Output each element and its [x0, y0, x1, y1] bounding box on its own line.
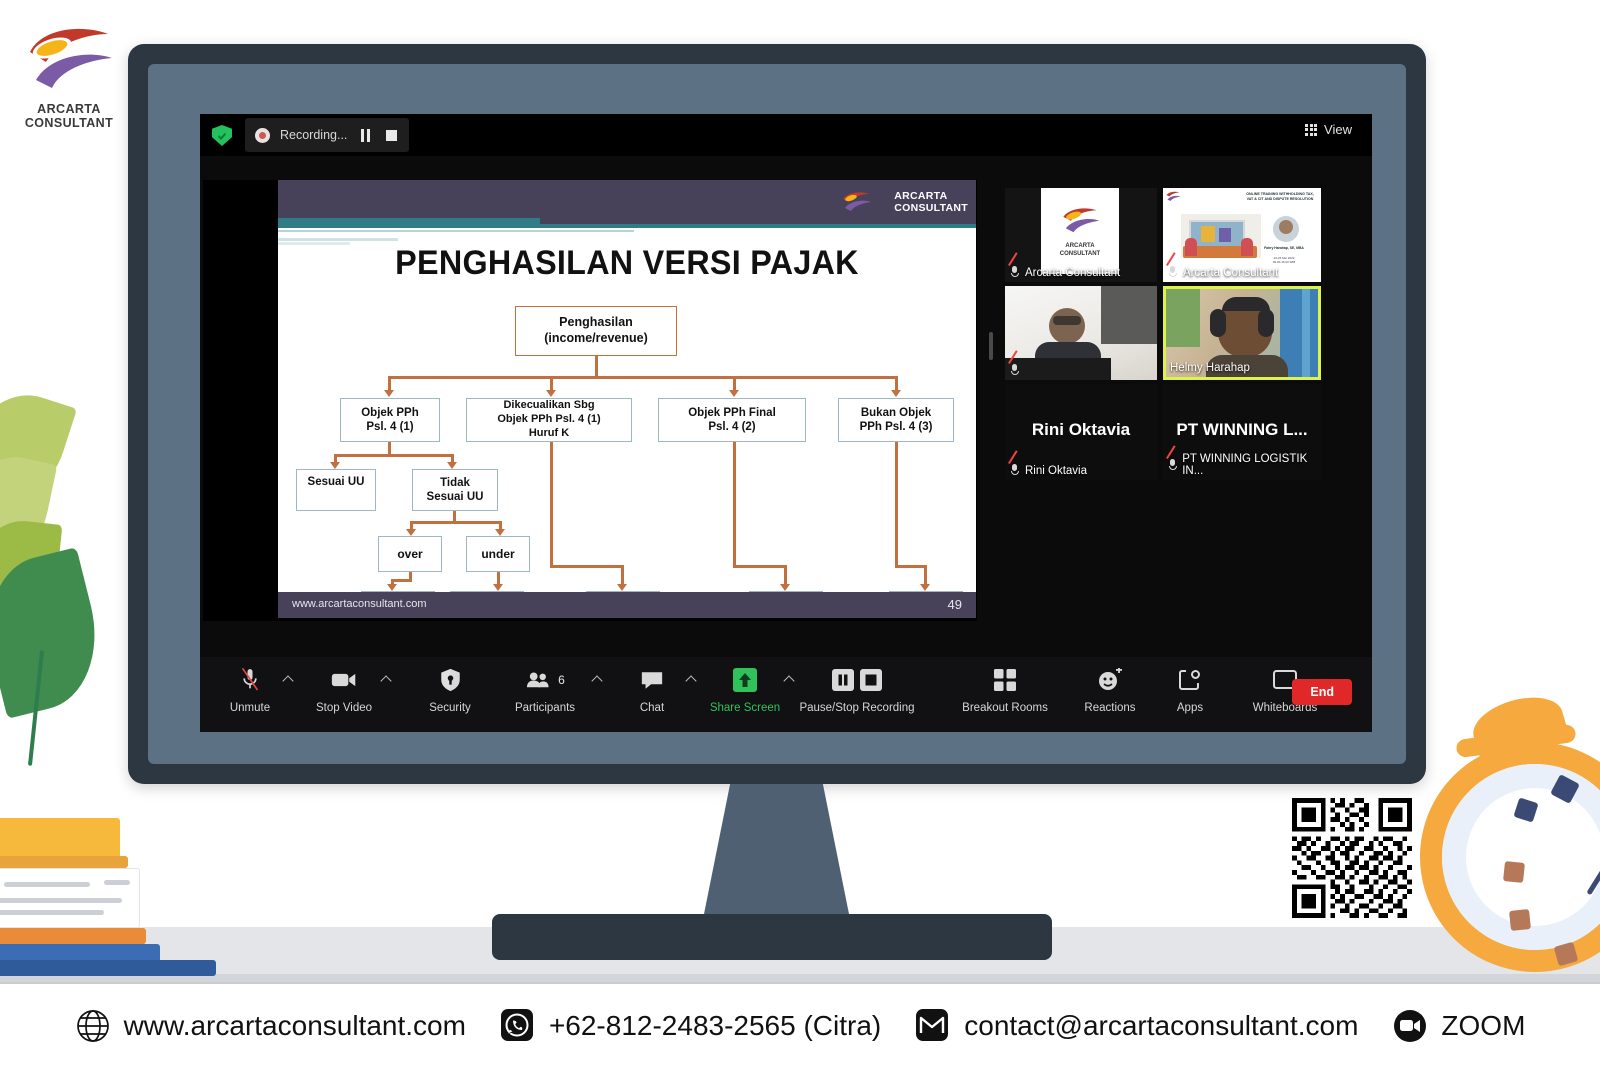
toolbar-label: Breakout Rooms [962, 702, 1048, 714]
apps-bracket-icon [1178, 665, 1202, 695]
stop-recording-icon[interactable] [383, 127, 399, 143]
shared-screen-area[interactable]: ARCARTACONSULTANT PENGHASILAN VERSI PAJA… [203, 180, 977, 621]
slide-brand-text: ARCARTACONSULTANT [894, 190, 968, 214]
zoom-bottom-toolbar: Unmute Stop Video [200, 657, 1372, 732]
contact-website-text: www.arcartaconsultant.com [124, 1010, 466, 1042]
video-camera-icon [331, 665, 357, 695]
monitor-stand-neck [704, 784, 849, 914]
zoom-top-bar: Recording... View [200, 114, 1372, 156]
monitor-frame: Recording... View [128, 44, 1426, 784]
brand-logo-text: ARCARTACONSULTANT [16, 102, 122, 130]
toolbar-label: Apps [1177, 702, 1203, 714]
mic-muted-icon [240, 665, 260, 695]
toolbar-label: Pause/Stop Recording [799, 702, 914, 714]
slide-footer-band: www.arcartaconsultant.com 49 [278, 592, 976, 618]
tile-nametag [1009, 364, 1025, 377]
shield-check-icon[interactable] [212, 125, 232, 146]
participant-tile-pt-winning[interactable]: PT WINNING L... PT WINNING LOGISTIK IN..… [1163, 384, 1321, 480]
contact-website[interactable]: www.arcartaconsultant.com [75, 1008, 466, 1044]
monitor-screen: Recording... View [200, 114, 1372, 732]
chevron-up-icon-mic[interactable] [284, 677, 292, 685]
monitor-inner-bezel: Recording... View [148, 64, 1406, 764]
presentation-slide: ARCARTACONSULTANT PENGHASILAN VERSI PAJA… [278, 180, 976, 618]
record-dot-icon [255, 128, 270, 143]
globe-icon [75, 1008, 111, 1044]
poster-canvas: ARCARTACONSULTANT Recording... [0, 0, 1600, 1067]
contact-whatsapp-text: +62-812-2483-2565 (Citra) [549, 1010, 881, 1042]
pause-recording-icon[interactable] [357, 127, 373, 143]
smiley-plus-icon [1097, 665, 1123, 695]
mic-muted-icon [1009, 266, 1020, 279]
contact-bar: www.arcartaconsultant.com +62-812-2483-2… [0, 982, 1600, 1067]
toolbar-share-screen-button[interactable]: Share Screen [705, 665, 785, 714]
toolbar-chat-button[interactable]: Chat [612, 665, 692, 714]
gmail-icon [915, 1008, 951, 1044]
grid-squares-icon [993, 665, 1017, 695]
flow-box-over: over [378, 536, 442, 572]
chevron-up-icon-video[interactable] [382, 677, 390, 685]
participant-tiles: ARCARTACONSULTANT Arcarta Consultant [995, 180, 1360, 621]
toolbar-label: Participants [515, 702, 575, 714]
recording-label: Recording... [280, 128, 347, 142]
tile-nametag: PT WINNING LOGISTIK IN... [1167, 453, 1321, 477]
chevron-up-icon-chat[interactable] [687, 677, 695, 685]
flow-box-sesuai-uu: Sesuai UU [296, 469, 376, 511]
people-icon: 6 [525, 665, 565, 695]
arcarta-logo: ARCARTACONSULTANT [16, 18, 122, 130]
mic-muted-icon [1009, 464, 1020, 477]
toolbar-reactions-button[interactable]: Reactions [1070, 665, 1150, 714]
contact-zoom-text: ZOOM [1441, 1010, 1525, 1042]
tile-nametag: Helmy Harahap [1170, 362, 1250, 374]
tile-display-name: PT WINNING L... [1163, 420, 1321, 440]
tile-nametag: Arcarta Consultant [1009, 266, 1120, 279]
toolbar-label: Stop Video [316, 702, 372, 714]
flow-box-bukan-objek: Bukan Objek PPh Psl. 4 (3) [838, 398, 954, 442]
zoom-icon [1392, 1008, 1428, 1044]
toolbar-apps-button[interactable]: Apps [1150, 665, 1230, 714]
zoom-meeting-window: Recording... View [200, 114, 1372, 732]
mic-muted-icon [1009, 364, 1020, 377]
toolbar-label: Share Screen [710, 702, 780, 714]
toolbar-label: Security [429, 702, 471, 714]
toolbar-label: Unmute [230, 702, 270, 714]
recording-indicator: Recording... [245, 118, 409, 152]
toolbar-participants-button[interactable]: 6 Participants [505, 665, 585, 714]
monitor-stand-base [492, 914, 1052, 960]
slide-header-band: ARCARTACONSULTANT [278, 180, 976, 228]
contact-zoom[interactable]: ZOOM [1392, 1008, 1525, 1044]
tile-thumbnail [1005, 286, 1157, 380]
toolbar-unmute-button[interactable]: Unmute [210, 665, 290, 714]
tile-nametag: Rini Oktavia [1009, 464, 1087, 477]
mic-muted-icon [1167, 266, 1178, 279]
contact-email[interactable]: contact@arcartaconsultant.com [915, 1008, 1358, 1044]
flow-box-objek-pph-final: Objek PPh Final Psl. 4 (2) [658, 398, 806, 442]
whatsapp-icon [500, 1008, 536, 1044]
participant-tile-arcarta-logo[interactable]: ARCARTACONSULTANT Arcarta Consultant [1005, 188, 1157, 282]
qr-code [1292, 798, 1412, 918]
toolbar-pause-stop-recording-button[interactable]: Pause/Stop Recording [782, 665, 932, 714]
participant-tile-arcarta-slide[interactable]: ONLINE TRAINING WITHHOLDING TAX, VAT & C… [1163, 188, 1321, 282]
toolbar-label: Reactions [1084, 702, 1135, 714]
tile-display-name: Rini Oktavia [1005, 420, 1157, 440]
flow-box-tidak-sesuai-uu: Tidak Sesuai UU [412, 469, 498, 511]
share-screen-up-icon [732, 665, 758, 695]
flow-box-dikecualikan: Dikecualikan Sbg Objek PPh Psl. 4 (1) Hu… [466, 398, 632, 442]
contact-whatsapp[interactable]: +62-812-2483-2565 (Citra) [500, 1008, 881, 1044]
toolbar-security-button[interactable]: Security [410, 665, 490, 714]
contact-email-text: contact@arcartaconsultant.com [964, 1010, 1358, 1042]
participants-count: 6 [558, 673, 565, 687]
slide-page-number: 49 [948, 597, 962, 612]
shield-icon [440, 665, 461, 695]
flow-box-root: Penghasilan (income/revenue) [515, 306, 677, 356]
view-button-label: View [1324, 122, 1352, 137]
floor-edge [0, 974, 1600, 982]
participant-tile-video[interactable] [1005, 286, 1157, 380]
toolbar-breakout-rooms-button[interactable]: Breakout Rooms [950, 665, 1060, 714]
participant-tile-rini-oktavia[interactable]: Rini Oktavia Rini Oktavia [1005, 384, 1157, 480]
slide-arcarta-logo-icon [840, 189, 872, 217]
chevron-up-icon-participants[interactable] [593, 677, 601, 685]
tile-nametag: Arcarta Consultant [1167, 266, 1278, 279]
flow-box-under: under [466, 536, 530, 572]
toolbar-stop-video-button[interactable]: Stop Video [304, 665, 384, 714]
pause-stop-icon [831, 665, 883, 695]
flow-box-objek-pph: Objek PPh Psl. 4 (1) [340, 398, 440, 442]
toolbar-label: Chat [640, 702, 664, 714]
mic-muted-icon [1167, 459, 1177, 472]
tile-scroll-handle[interactable] [989, 332, 993, 360]
grid-icon [1305, 124, 1317, 136]
chat-bubble-icon [640, 665, 664, 695]
end-meeting-button[interactable]: End [1292, 679, 1352, 705]
participant-tile-helmy-harahap[interactable]: Helmy Harahap [1163, 286, 1321, 380]
view-button[interactable]: View [1305, 122, 1352, 137]
slide-title: PENGHASILAN VERSI PAJAK [295, 244, 958, 283]
slide-footer-url: www.arcartaconsultant.com [292, 598, 427, 610]
